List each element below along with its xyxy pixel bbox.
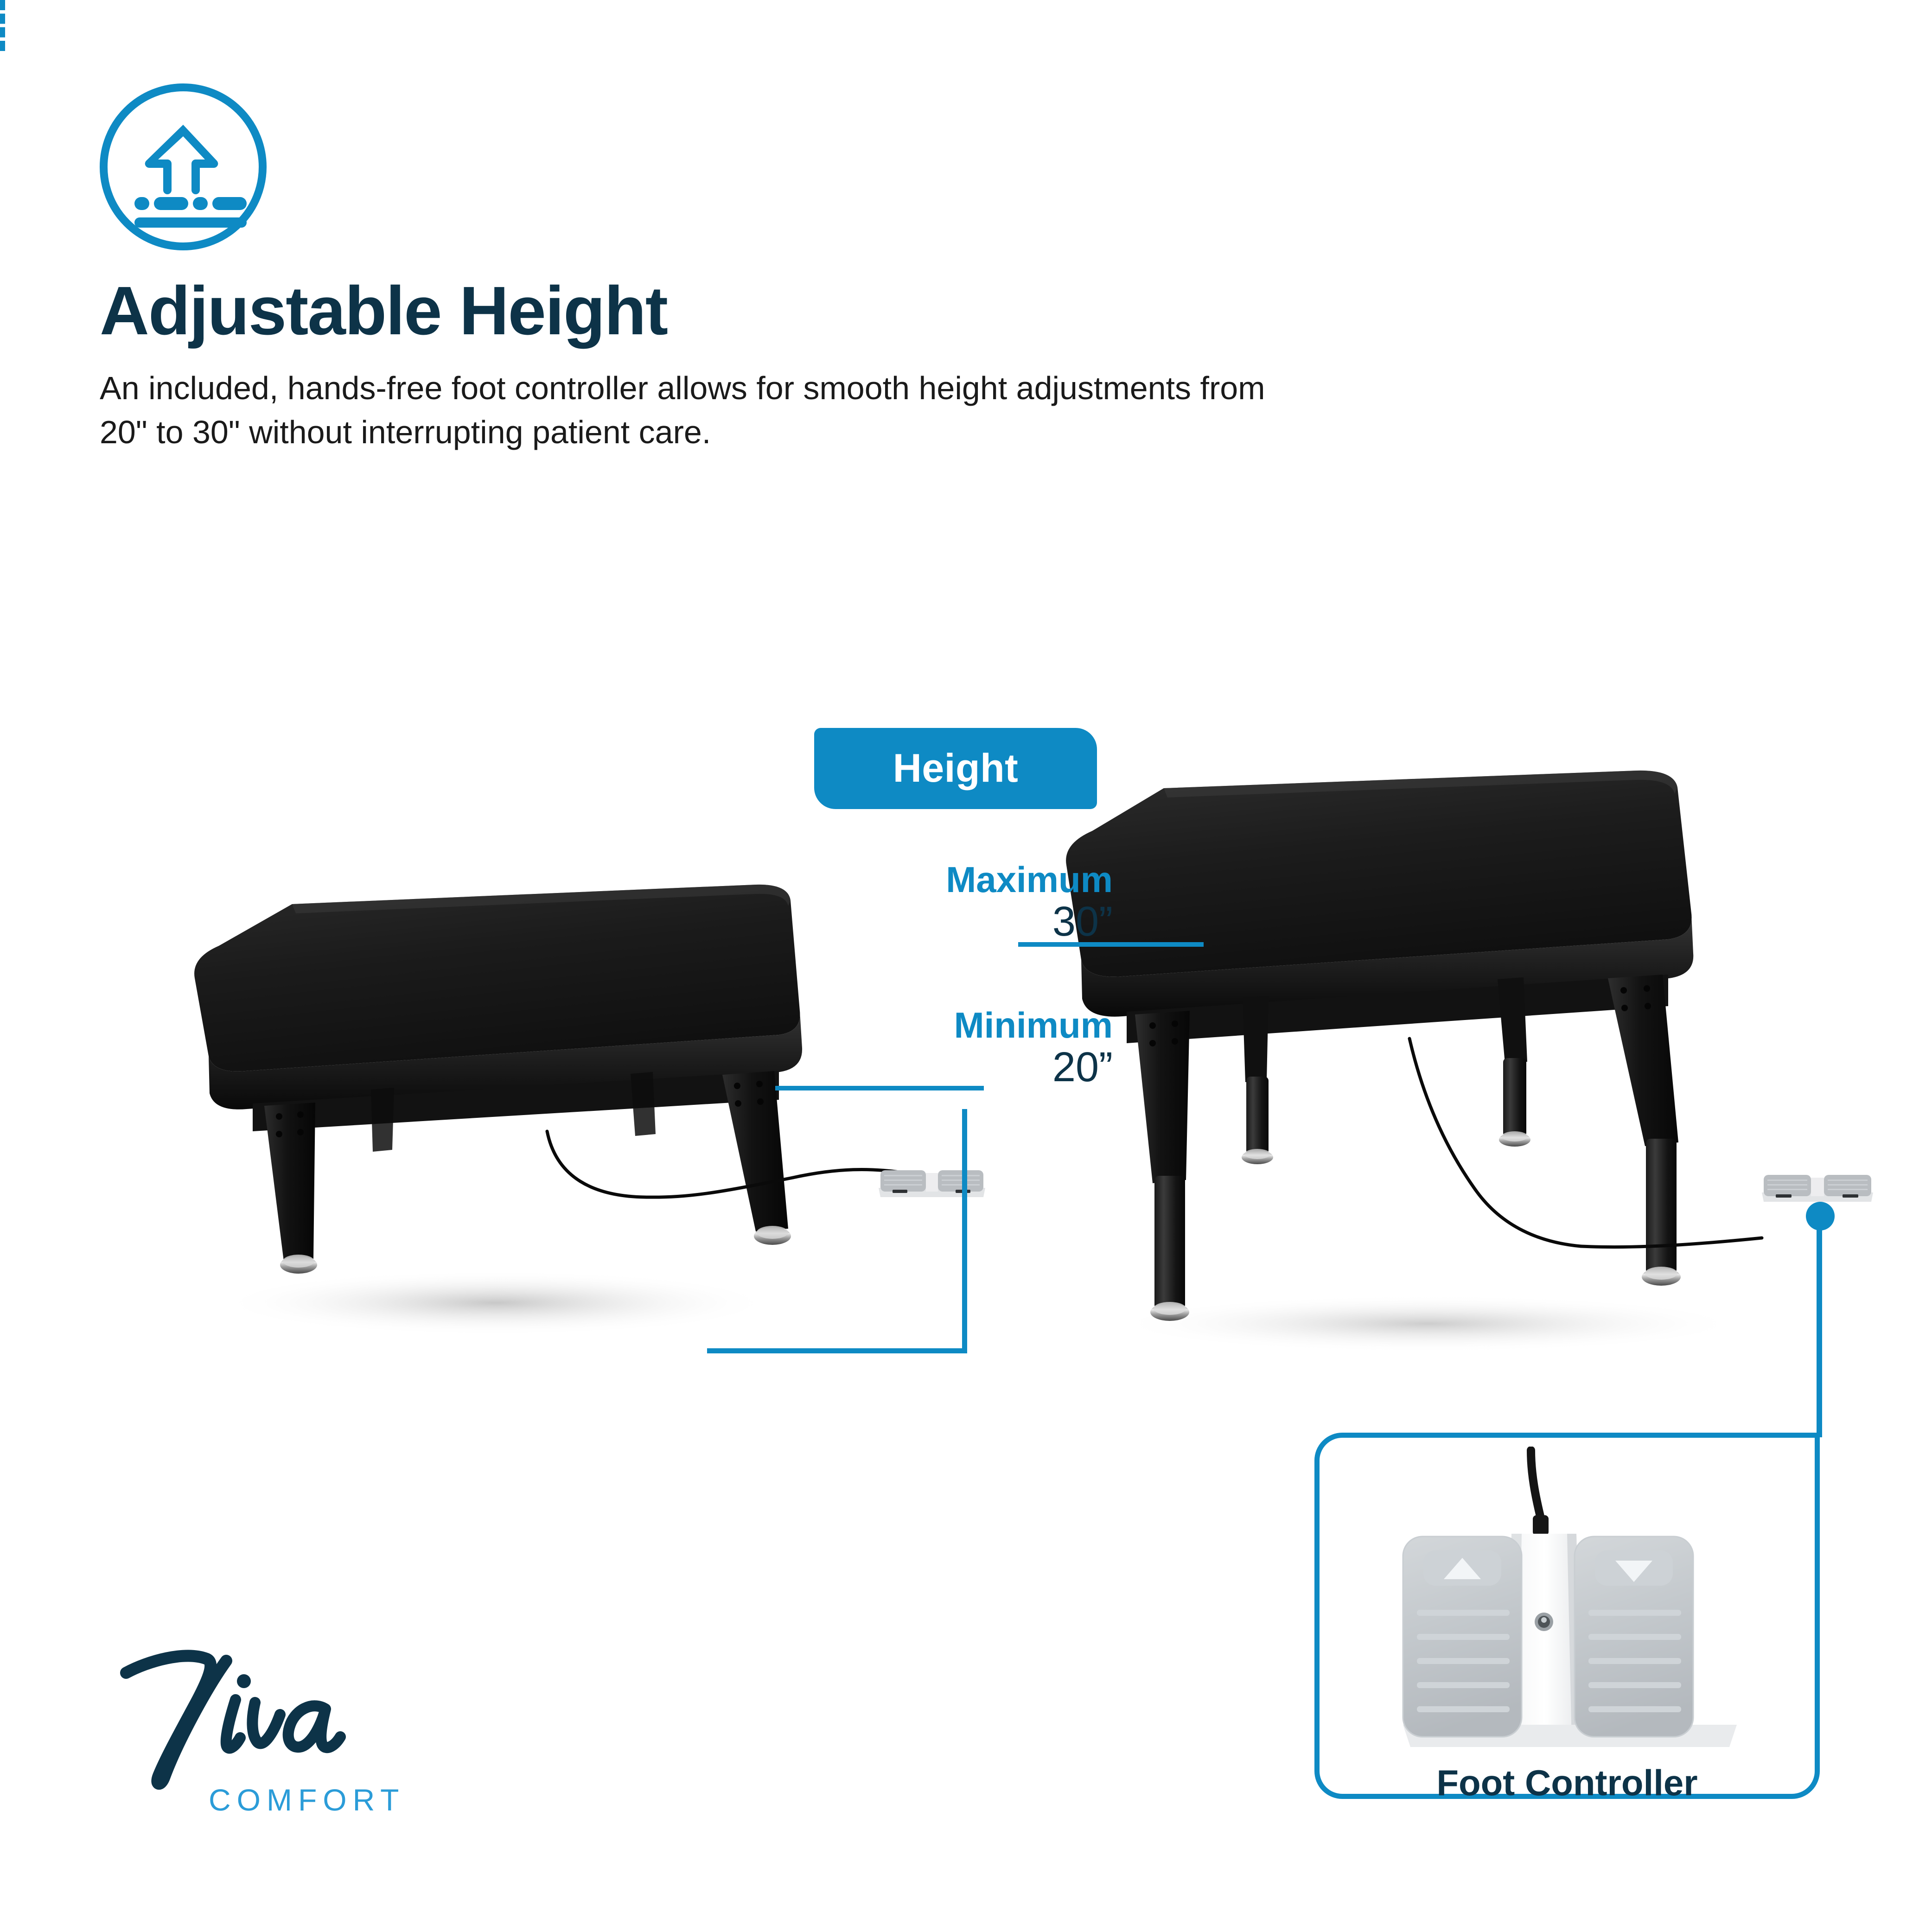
header: Adjustable Height An included, hands-fre… [100, 83, 1444, 454]
product-image-table-minimum-height [176, 872, 899, 1358]
page-description: An included, hands-free foot controller … [100, 366, 1287, 454]
foot-controller-pedal-minimum-scene [874, 1154, 990, 1205]
infographic-canvas: Adjustable Height An included, hands-fre… [0, 0, 1932, 1932]
measurement-minimum: Minimum 20” [830, 1007, 1113, 1090]
measurement-maximum-name: Maximum [830, 861, 1113, 899]
brand-logo: COMFORT [116, 1618, 524, 1817]
logo-wordmark: COMFORT [209, 1782, 524, 1817]
foot-controller-detail-image [1358, 1447, 1780, 1785]
page-title: Adjustable Height [100, 275, 1444, 347]
product-image-table-maximum-height [1057, 760, 1855, 1358]
dimension-line-dashed [0, 0, 5, 51]
callout-connector-line [1817, 1224, 1822, 1437]
dimension-line-baseline [707, 1348, 967, 1353]
height-badge: Height [814, 728, 1097, 809]
measurement-maximum-value: 30” [830, 899, 1113, 945]
leader-line-maximum [1018, 942, 1204, 947]
viva-script-logo [116, 1618, 440, 1794]
measurement-minimum-value: 20” [830, 1044, 1113, 1091]
measurement-maximum: Maximum 30” [830, 861, 1113, 945]
leader-line-minimum [775, 1086, 984, 1090]
dimension-line-vertical [962, 1109, 967, 1352]
height-adjust-arrow-icon [100, 83, 267, 250]
measurement-minimum-name: Minimum [830, 1007, 1113, 1044]
height-badge-label: Height [893, 746, 1019, 791]
foot-controller-label: Foot Controller [1314, 1762, 1820, 1804]
